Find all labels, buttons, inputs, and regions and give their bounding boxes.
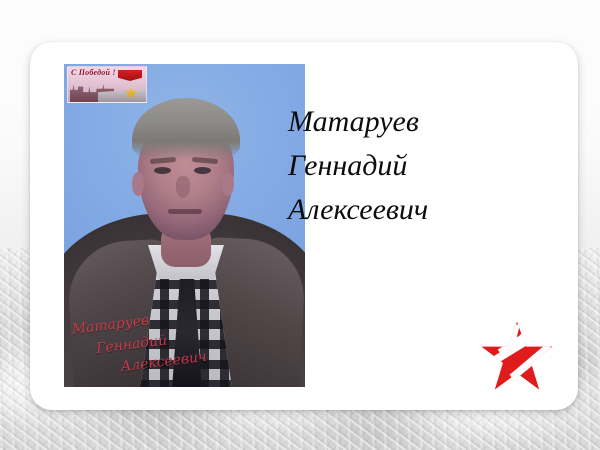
person-name: Матаруев Геннадий Алексеевич — [288, 100, 548, 232]
name-line-patronymic: Алексеевич — [288, 188, 548, 232]
nose — [176, 176, 190, 198]
slide-canvas: С Победой ! Матаруев Геннадий Алексеевич… — [0, 0, 600, 450]
name-line-firstname: Геннадий — [288, 144, 548, 188]
name-line-surname: Матаруев — [288, 100, 548, 144]
ear-left — [132, 172, 144, 196]
red-star-icon — [478, 320, 556, 394]
eye-left — [154, 167, 171, 174]
stamp-label: С Победой ! — [71, 68, 116, 77]
victory-day-stamp: С Победой ! — [67, 66, 147, 103]
red-star-emblem — [478, 320, 556, 394]
eye-right — [194, 167, 211, 174]
mouth — [168, 209, 202, 214]
ear-right — [222, 172, 234, 196]
content-card: С Победой ! Матаруев Геннадий Алексеевич… — [30, 42, 578, 410]
portrait-photo: С Победой ! Матаруев Геннадий Алексеевич — [64, 64, 305, 387]
